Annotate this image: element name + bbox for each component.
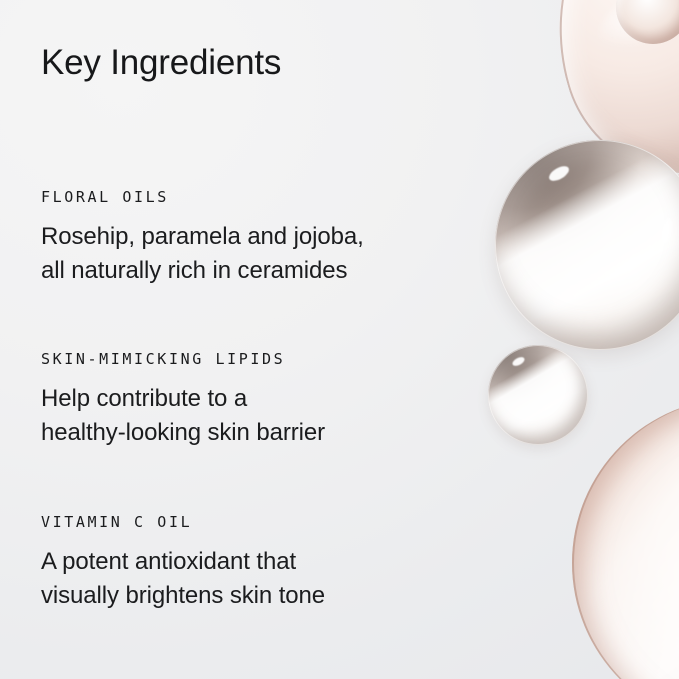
small-droplet-specular-icon [511,355,526,367]
large-droplet-shadow-icon [495,140,679,350]
ingredients-panel: Key Ingredients FLORAL OILS Rosehip, par… [0,0,679,679]
ingredient-section-floral-oils: FLORAL OILS Rosehip, paramela and jojoba… [41,188,511,288]
top-right-blob-rim-icon [519,0,679,208]
large-droplet-icon [495,140,679,350]
ingredient-section-vitamin-c-oil: VITAMIN C OIL A potent antioxidant that … [41,513,511,613]
ingredient-description: Rosehip, paramela and jojoba, all natura… [41,220,511,288]
top-right-blob-icon [520,0,679,204]
bottom-right-droplet-sheen-icon [572,398,679,679]
bottom-right-droplet-icon [572,398,679,679]
ingredient-description: A potent antioxidant that visually brigh… [41,545,511,613]
ingredient-heading: SKIN-MIMICKING LIPIDS [41,350,511,368]
ingredient-heading: FLORAL OILS [41,188,511,206]
large-droplet-edge-glint-icon [660,217,673,244]
bottom-right-droplet-rim-icon [572,398,679,679]
top-right-blob-highlight-icon [590,0,679,66]
large-droplet-sheen-icon [495,140,679,350]
top-right-ring-icon [616,0,679,44]
large-droplet-specular-icon [547,163,572,184]
ingredient-description: Help contribute to a healthy-looking ski… [41,382,511,450]
ingredient-section-skin-mimicking-lipids: SKIN-MIMICKING LIPIDS Help contribute to… [41,350,511,450]
page-title: Key Ingredients [41,44,281,83]
large-droplet-rim-icon [495,140,679,350]
ingredient-heading: VITAMIN C OIL [41,513,511,531]
